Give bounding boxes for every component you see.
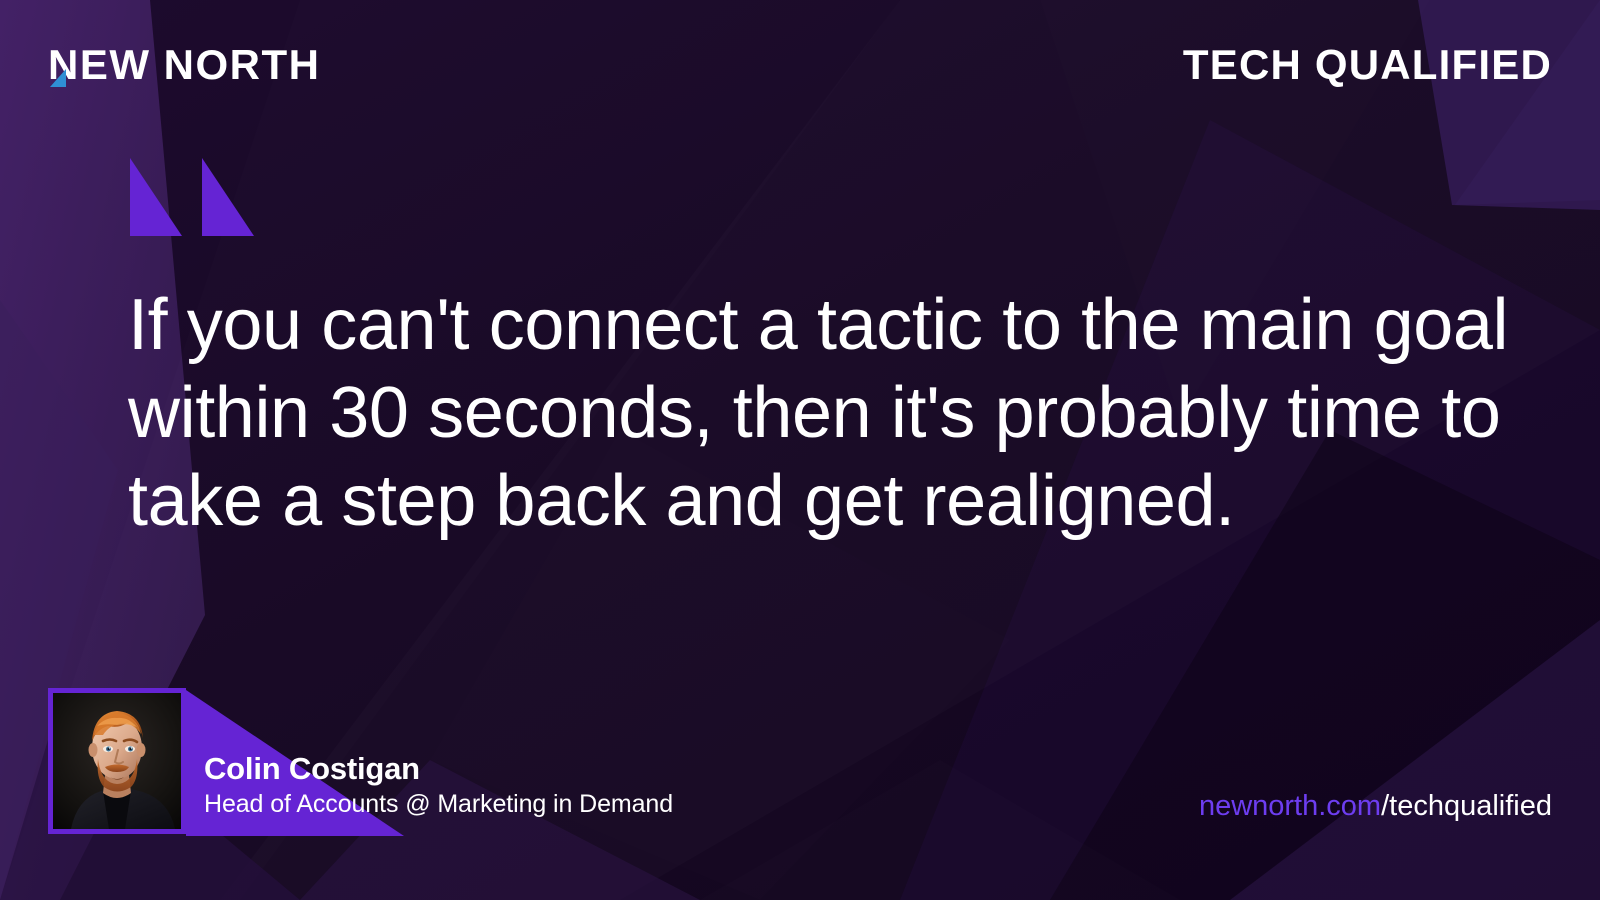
speaker-role: Head of Accounts @ Marketing in Demand bbox=[204, 789, 673, 819]
url-path: /techqualified bbox=[1381, 790, 1552, 822]
quote-card: NEW NORTH TECH QUALIFIED If you can't co… bbox=[0, 0, 1600, 900]
url-domain: newnorth.com bbox=[1199, 790, 1381, 822]
attribution-block: Colin Costigan Head of Accounts @ Market… bbox=[0, 0, 1600, 900]
site-url[interactable]: newnorth.com/techqualified bbox=[1199, 789, 1552, 824]
attribution-text: Colin Costigan Head of Accounts @ Market… bbox=[204, 752, 673, 819]
avatar bbox=[48, 688, 186, 834]
speaker-name: Colin Costigan bbox=[204, 752, 673, 787]
